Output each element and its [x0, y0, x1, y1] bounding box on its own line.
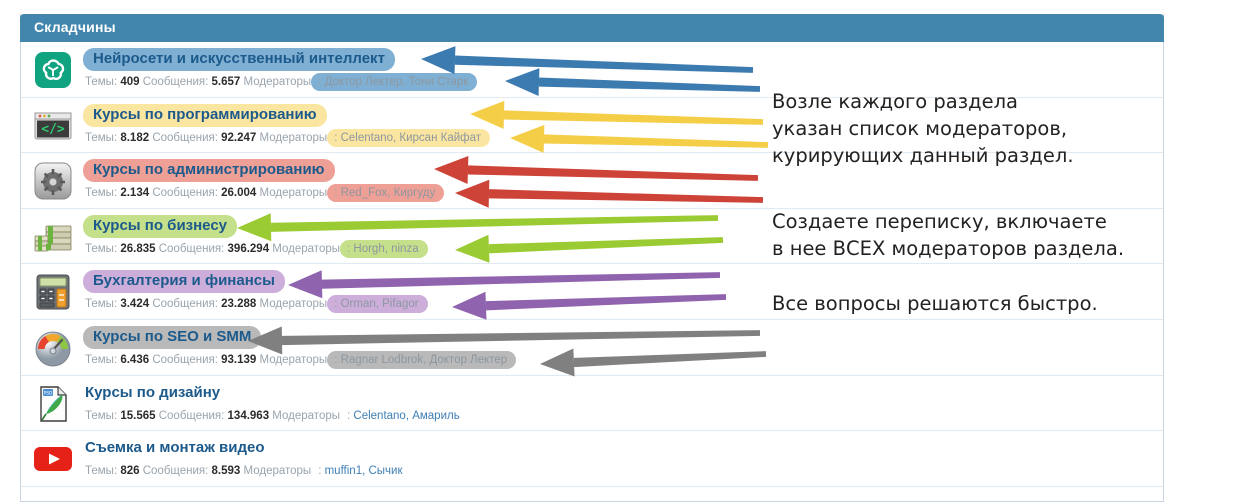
moderators-label: Модераторы: [269, 243, 340, 255]
topics-label: Темы:: [85, 410, 120, 422]
moderators-pill: : Red_Fox, Киргуду: [327, 184, 444, 202]
topics-count: 8.182: [120, 132, 149, 144]
moderators-pill: : Доктор Лектер, Тони Старк: [311, 73, 477, 91]
topics-label: Темы:: [85, 76, 120, 88]
gear-settings-icon: [32, 160, 74, 202]
topics-label: Темы:: [85, 298, 120, 310]
screenshot-stage: Складчины Нейросети и искусственный инте…: [0, 0, 1249, 502]
topics-count: 26.835: [120, 243, 155, 255]
speedometer-icon: [32, 327, 74, 369]
moderators-pill: : Celentano, Амариль: [340, 407, 469, 425]
moderators-pill: : muffin1, Сычик: [311, 462, 411, 480]
messages-count: 23.288: [221, 298, 256, 310]
topics-count: 6.436: [120, 354, 149, 366]
section-title-link[interactable]: Нейросети и искусственный интеллект: [83, 48, 395, 71]
moderators-label: Модераторы: [256, 187, 327, 199]
messages-label: Сообщения:: [149, 132, 221, 144]
messages-count: 134.963: [228, 410, 270, 422]
section-icon-wrapper[interactable]: [32, 216, 74, 258]
section-body: Нейросети и искусственный интеллектТемы:…: [83, 48, 1163, 91]
messages-count: 8.593: [212, 465, 241, 477]
section-title-link[interactable]: Курсы по бизнесу: [83, 215, 237, 238]
moderator-names[interactable]: Orman, Pifagor: [341, 298, 419, 310]
messages-label: Сообщения:: [149, 298, 221, 310]
section-meta: Темы: 2.134 Сообщения: 26.004 Модераторы…: [83, 184, 1163, 202]
messages-count: 5.657: [212, 76, 241, 88]
section-body: Курсы по дизайнуТемы: 15.565 Сообщения: …: [83, 382, 1163, 425]
moderators-label: Модераторы: [256, 298, 327, 310]
section-body: Курсы по SEO и SMMТемы: 6.436 Сообщения:…: [83, 326, 1163, 369]
section-title-link[interactable]: Курсы по SEO и SMM: [83, 326, 261, 349]
forum-section-row[interactable]: PSD Курсы по дизайнуТемы: 15.565 Сообщен…: [21, 376, 1163, 432]
messages-count: 93.139: [221, 354, 256, 366]
panel-header-title: Складчины: [34, 19, 116, 35]
svg-text:</>: </>: [41, 122, 65, 137]
moderator-names[interactable]: Ragnar Lodbrok, Доктор Лектер: [341, 354, 508, 366]
messages-label: Сообщения:: [140, 76, 212, 88]
section-meta: Темы: 15.565 Сообщения: 134.963 Модерато…: [83, 407, 1163, 425]
section-title-link[interactable]: Курсы по дизайну: [83, 382, 222, 405]
moderators-label: Модераторы: [256, 132, 327, 144]
topics-count: 2.134: [120, 187, 149, 199]
openai-logo-icon: [32, 49, 74, 91]
moderators-pill: : Celentano, Кирсан Кайфат: [327, 129, 490, 147]
forum-panel-header: Складчины: [20, 14, 1164, 42]
moderator-names[interactable]: Celentano, Амариль: [353, 410, 459, 422]
topics-label: Темы:: [85, 354, 120, 366]
forum-section-row[interactable]: Съемка и монтаж видеоТемы: 826 Сообщения…: [21, 431, 1163, 487]
section-meta: Темы: 6.436 Сообщения: 93.139 Модераторы…: [83, 351, 1163, 369]
section-title-link[interactable]: Съемка и монтаж видео: [83, 437, 267, 460]
section-icon-wrapper[interactable]: [32, 271, 74, 313]
youtube-play-icon: [32, 438, 74, 480]
topics-label: Темы:: [85, 465, 120, 477]
messages-label: Сообщения:: [156, 243, 228, 255]
section-title-link[interactable]: Курсы по администрированию: [83, 159, 335, 182]
topics-count: 826: [120, 465, 139, 477]
moderators-label: Модераторы: [240, 465, 311, 477]
moderators-pill: : Ragnar Lodbrok, Доктор Лектер: [327, 351, 516, 369]
messages-count: 26.004: [221, 187, 256, 199]
moderator-names[interactable]: Horgh, ninza: [353, 243, 418, 255]
moderator-names[interactable]: muffin1, Сычик: [325, 465, 403, 477]
section-icon-wrapper[interactable]: PSD: [32, 383, 74, 425]
messages-count: 92.247: [221, 132, 256, 144]
moderator-names[interactable]: Celentano, Кирсан Кайфат: [341, 132, 481, 144]
moderator-names[interactable]: Red_Fox, Киргуду: [341, 187, 436, 199]
annotation-note-2: Создаете переписку, включаете в нее ВСЕХ…: [772, 208, 1124, 262]
messages-label: Сообщения:: [149, 354, 221, 366]
code-terminal-icon: </>: [32, 105, 74, 147]
moderators-label: Модераторы: [269, 410, 340, 422]
moderators-pill: : Horgh, ninza: [340, 240, 428, 258]
money-stack-icon: [32, 216, 74, 258]
svg-text:PSD: PSD: [44, 390, 53, 396]
topics-label: Темы:: [85, 132, 120, 144]
section-title-link[interactable]: Бухгалтерия и финансы: [83, 270, 285, 293]
topics-count: 15.565: [120, 410, 155, 422]
section-icon-wrapper[interactable]: </>: [32, 105, 74, 147]
section-icon-wrapper[interactable]: [32, 438, 74, 480]
section-icon-wrapper[interactable]: [32, 160, 74, 202]
psd-file-icon: PSD: [32, 383, 74, 425]
messages-label: Сообщения:: [156, 410, 228, 422]
messages-count: 396.294: [228, 243, 270, 255]
moderators-label: Модераторы: [256, 354, 327, 366]
section-body: Съемка и монтаж видеоТемы: 826 Сообщения…: [83, 437, 1163, 480]
section-title-link[interactable]: Курсы по программированию: [83, 104, 327, 127]
section-meta: Темы: 826 Сообщения: 8.593 Модераторы: m…: [83, 462, 1163, 480]
forum-section-row[interactable]: Курсы по SEO и SMMТемы: 6.436 Сообщения:…: [21, 320, 1163, 376]
calculator-icon: [32, 271, 74, 313]
topics-label: Темы:: [85, 243, 120, 255]
messages-label: Сообщения:: [140, 465, 212, 477]
section-icon-wrapper[interactable]: [32, 49, 74, 91]
moderators-pill: : Orman, Pifagor: [327, 295, 427, 313]
moderators-label: Модераторы: [240, 76, 311, 88]
section-icon-wrapper[interactable]: [32, 327, 74, 369]
messages-label: Сообщения:: [149, 187, 221, 199]
topics-label: Темы:: [85, 187, 120, 199]
topics-count: 3.424: [120, 298, 149, 310]
annotation-note-1: Возле каждого раздела указан список моде…: [772, 88, 1074, 169]
moderator-names[interactable]: Доктор Лектер, Тони Старк: [325, 76, 469, 88]
topics-count: 409: [120, 76, 139, 88]
annotation-note-3: Все вопросы решаются быстро.: [772, 290, 1098, 317]
